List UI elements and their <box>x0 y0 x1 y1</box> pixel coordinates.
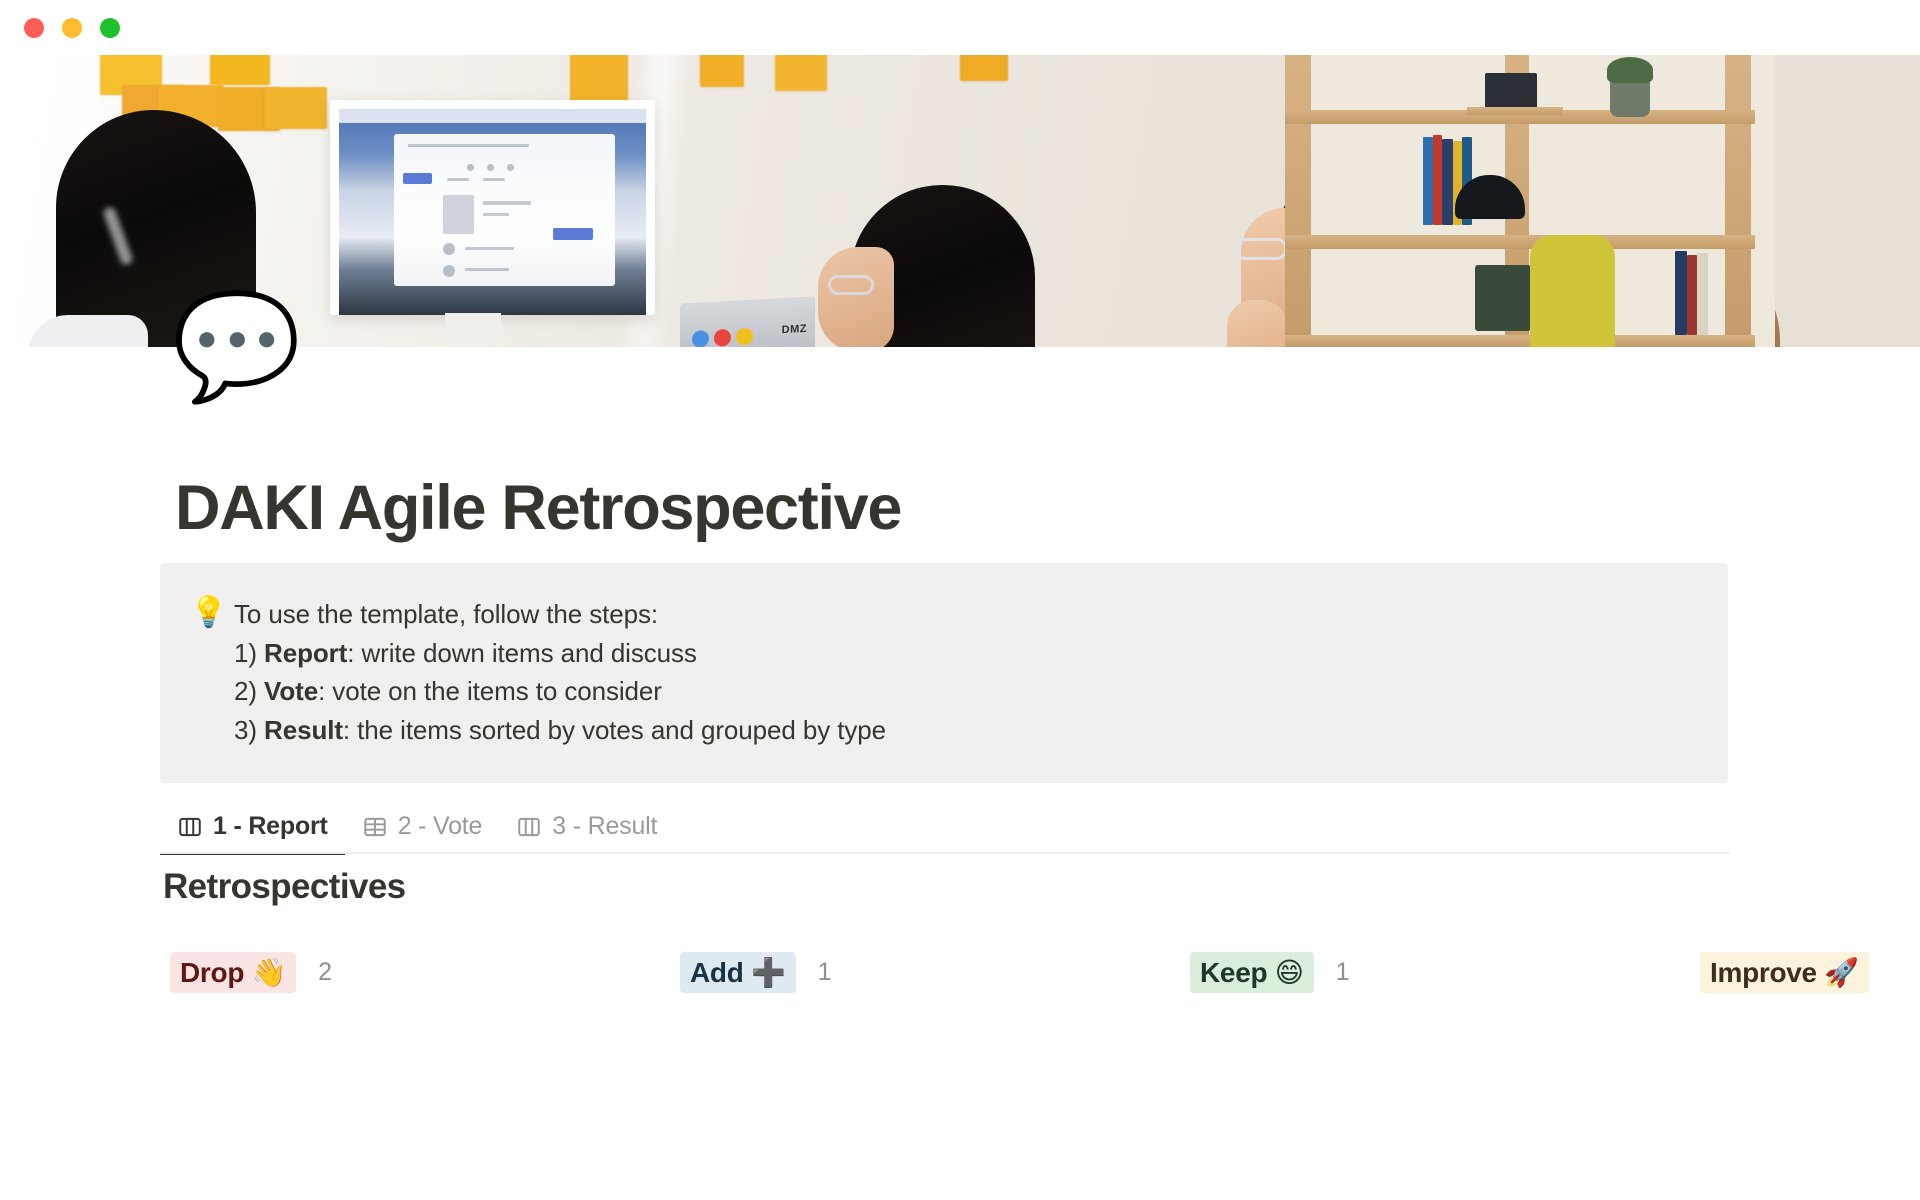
callout-line-bold: Vote <box>264 676 318 706</box>
person-denim <box>810 185 1070 347</box>
section-title[interactable]: Retrospectives <box>163 867 406 907</box>
callout-line-lead: 1) <box>234 638 264 668</box>
callout-line-rest: To use the template, follow the steps: <box>234 599 658 629</box>
page-title[interactable]: DAKI Agile Retrospective <box>175 475 901 541</box>
column-label: Add ➕ <box>680 952 796 993</box>
board-column[interactable]: Add ➕ 1 <box>670 932 1180 1012</box>
board-icon <box>177 814 203 840</box>
monitor-stand <box>445 313 501 345</box>
laptop: DMZ <box>680 296 815 347</box>
callout-block[interactable]: 💡 To use the template, follow the steps:… <box>160 563 1728 783</box>
sticky-note <box>775 55 827 91</box>
bookshelf <box>1255 55 1815 347</box>
sticky-note <box>960 55 1008 81</box>
tab-2-vote[interactable]: 2 - Vote <box>345 812 500 855</box>
lightbulb-icon: 💡 <box>190 593 234 749</box>
close-window-button[interactable] <box>24 18 44 38</box>
column-count: 1 <box>1336 958 1350 987</box>
callout-line-rest: : write down items and discuss <box>347 638 697 668</box>
tab-label: 2 - Vote <box>398 812 483 841</box>
callout-line: 3) Result: the items sorted by votes and… <box>234 711 1702 750</box>
column-label: Improve 🚀 <box>1700 952 1869 993</box>
callout-line: 2) Vote: vote on the items to consider <box>234 672 1702 711</box>
sticky-note <box>570 55 628 101</box>
maximize-window-button[interactable] <box>100 18 120 38</box>
callout-line: To use the template, follow the steps: <box>234 595 1702 634</box>
table-icon <box>362 814 388 840</box>
tab-3-result[interactable]: 3 - Result <box>499 812 674 855</box>
minimize-window-button[interactable] <box>62 18 82 38</box>
board-column[interactable]: Keep 😄 1 <box>1180 932 1690 1012</box>
sticky-note <box>700 55 744 87</box>
board-column[interactable]: Drop 👋 2 <box>160 932 670 1012</box>
board-column[interactable]: Improve 🚀 <box>1690 932 1920 1012</box>
column-count: 2 <box>318 958 332 987</box>
tab-label: 3 - Result <box>552 812 657 841</box>
kanban-board: Drop 👋 2 Add ➕ 1 Keep 😄 1 Improve 🚀 <box>160 932 1920 1012</box>
sticky-note <box>210 55 270 85</box>
callout-line-rest: : the items sorted by votes and grouped … <box>343 715 886 745</box>
callout-line-lead: 3) <box>234 715 264 745</box>
callout-line-bold: Report <box>264 638 347 668</box>
tab-1-report[interactable]: 1 - Report <box>160 812 345 855</box>
callout-line: 1) Report: write down items and discuss <box>234 634 1702 673</box>
callout-line-bold: Result <box>264 715 343 745</box>
column-label: Drop 👋 <box>170 952 296 993</box>
window-titlebar <box>0 0 1920 55</box>
callout-line-rest: : vote on the items to consider <box>318 676 662 706</box>
tab-label: 1 - Report <box>213 812 328 841</box>
page-icon[interactable]: 💬 <box>172 288 290 406</box>
board-icon <box>516 814 542 840</box>
column-label: Keep 😄 <box>1190 952 1314 993</box>
callout-text: To use the template, follow the steps: 1… <box>234 593 1702 749</box>
view-tabs: 1 - Report 2 - Vote <box>160 797 1730 855</box>
callout-line-lead: 2) <box>234 676 264 706</box>
laptop-sticker-text: DMZ <box>782 323 807 336</box>
tabs-divider <box>160 852 1730 854</box>
monitor <box>330 100 655 315</box>
column-count: 1 <box>818 958 832 987</box>
screen-app-window <box>394 134 615 286</box>
monitor-screen <box>339 109 646 315</box>
traffic-lights <box>24 18 120 38</box>
